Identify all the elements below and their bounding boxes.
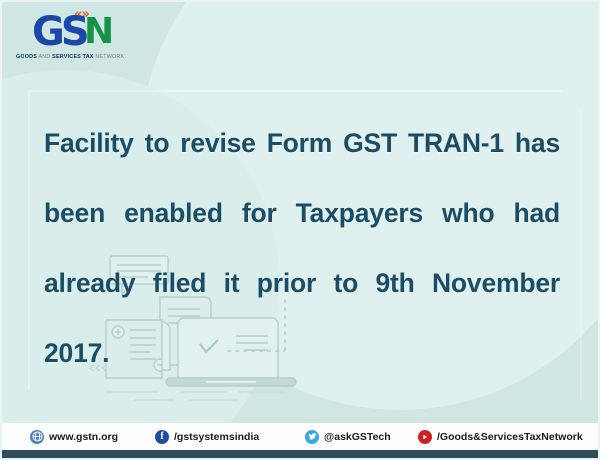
footer-label-youtube: /Goods&ServicesTaxNetwork xyxy=(437,431,583,443)
footer-label-website: www.gstn.org xyxy=(49,431,118,443)
logo-letter-n: N xyxy=(84,14,114,50)
logo-subtitle-goods: GOODS xyxy=(16,54,37,60)
twitter-icon xyxy=(305,430,319,444)
headline-text: Facility to revise Form GST TRAN-1 has b… xyxy=(44,126,560,371)
footer-link-facebook[interactable]: f /gstsystemsindia xyxy=(155,430,259,444)
logo-subtitle-services-tax: SERVICES TAX xyxy=(52,54,93,60)
headline-line-2: been enabled for Taxpayers who had xyxy=(44,196,560,266)
footer-bar: www.gstn.org f /gstsystemsindia @askGSTe… xyxy=(0,423,600,450)
decorative-frame-right-line xyxy=(580,110,582,400)
youtube-icon xyxy=(418,430,432,444)
footer-label-twitter: @askGSTech xyxy=(324,431,391,443)
logo-subtitle-and: AND xyxy=(37,54,52,60)
logo-mark: «» GS N GOODS AND SERVICES TAX NETWORK xyxy=(12,6,134,54)
footer-label-facebook: /gstsystemsindia xyxy=(174,431,259,443)
globe-icon xyxy=(30,430,44,444)
footer-accent-strip xyxy=(0,450,600,460)
ground-lines xyxy=(106,392,286,400)
facebook-icon: f xyxy=(155,430,169,444)
headline-line-4: 2017. xyxy=(44,336,560,371)
logo-subtitle: GOODS AND SERVICES TAX NETWORK xyxy=(16,54,124,60)
footer-link-twitter[interactable]: @askGSTech xyxy=(305,430,391,444)
footer-link-youtube[interactable]: /Goods&ServicesTaxNetwork xyxy=(418,430,583,444)
gstn-logo: «» GS N GOODS AND SERVICES TAX NETWORK xyxy=(12,6,140,54)
logo-subtitle-network: NETWORK xyxy=(94,54,125,60)
footer-link-website[interactable]: www.gstn.org xyxy=(30,430,118,444)
logo-letters-gs: GS xyxy=(32,12,86,52)
headline-line-3: already filed it prior to 9th November xyxy=(44,266,560,336)
gstn-announcement-poster: «» GS N GOODS AND SERVICES TAX NETWORK F… xyxy=(0,0,600,460)
headline-line-1: Facility to revise Form GST TRAN-1 has xyxy=(44,126,560,196)
